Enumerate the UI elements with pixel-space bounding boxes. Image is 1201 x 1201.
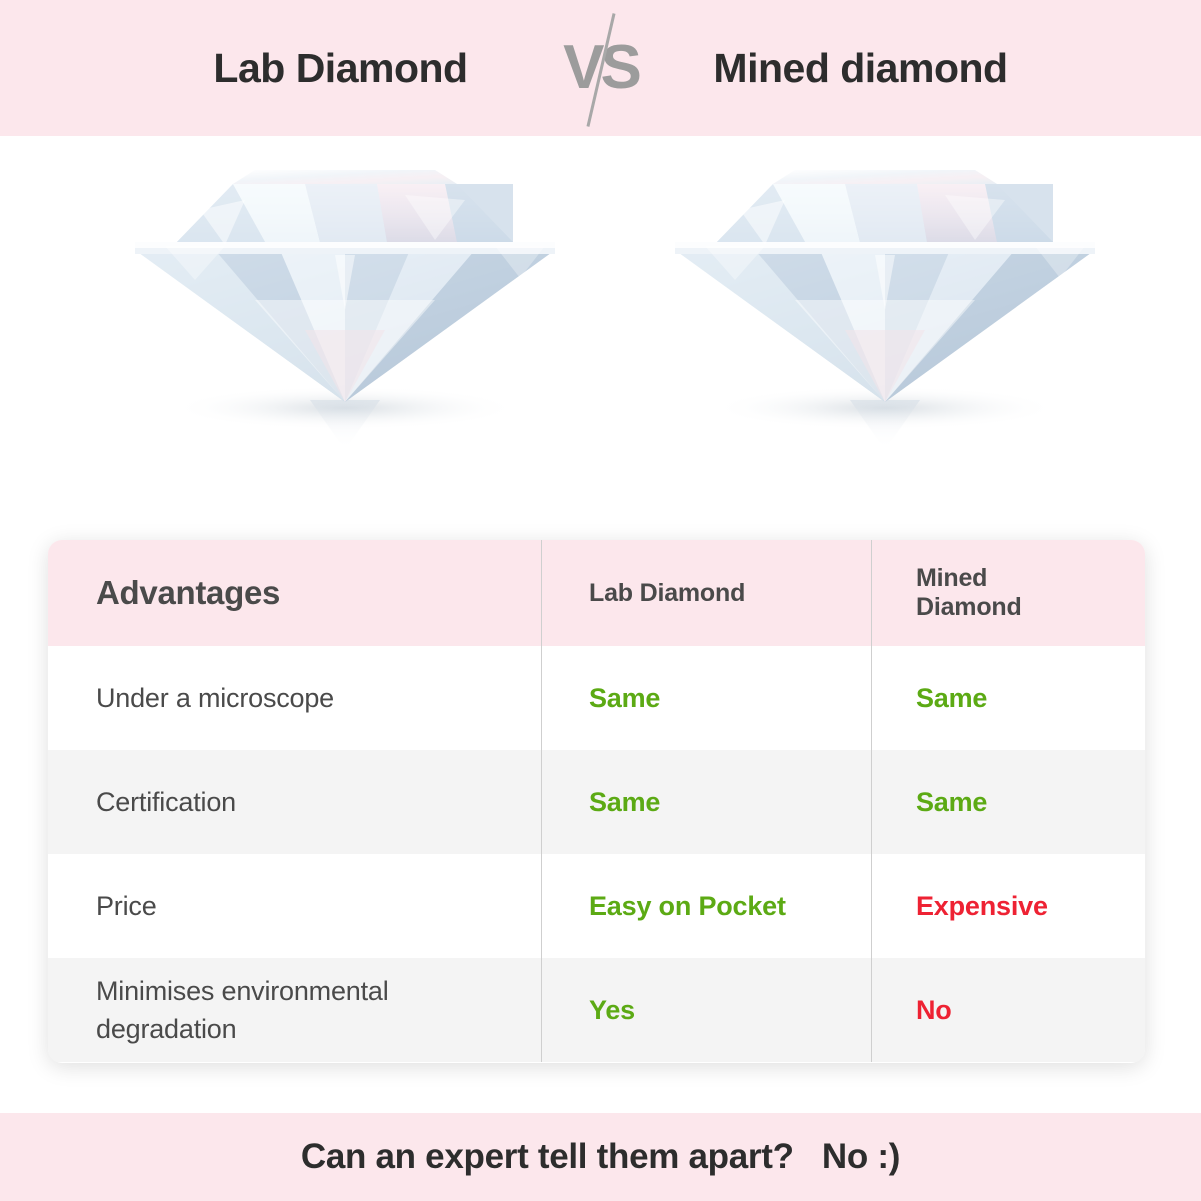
table-row: Minimises environmental degradation Yes … <box>48 958 1145 1062</box>
diamond-stage <box>0 136 1201 536</box>
mined-column-label: Mined Diamond <box>916 564 1060 621</box>
column-divider <box>871 854 872 958</box>
feature-label: Price <box>96 891 157 921</box>
diamond-icon <box>645 150 1115 480</box>
table-row: Certification Same Same <box>48 750 1145 854</box>
column-divider <box>541 750 542 854</box>
lab-value: Yes <box>589 995 635 1025</box>
column-divider <box>541 540 542 646</box>
column-divider <box>541 854 542 958</box>
row-feature-cell: Minimises environmental degradation <box>48 972 541 1049</box>
row-lab-cell: Yes <box>541 995 871 1026</box>
column-divider <box>541 958 542 1062</box>
mined-value: Same <box>916 683 987 713</box>
feature-label: Minimises environmental degradation <box>96 976 389 1044</box>
footer-question: Can an expert tell them apart? No :) <box>301 1137 900 1177</box>
column-divider <box>541 646 542 750</box>
row-mined-cell: No <box>871 995 1145 1026</box>
header-cell-advantages: Advantages <box>48 574 541 612</box>
row-lab-cell: Same <box>541 683 871 714</box>
mined-value: Expensive <box>916 891 1048 921</box>
advantages-label: Advantages <box>96 574 280 611</box>
row-feature-cell: Price <box>48 887 541 925</box>
column-divider <box>871 958 872 1062</box>
lab-diamond-image <box>105 150 575 480</box>
column-divider <box>871 750 872 854</box>
vs-divider: VS <box>541 8 661 128</box>
mined-value: No <box>916 995 952 1025</box>
row-mined-cell: Same <box>871 787 1145 818</box>
table-header-row: Advantages Lab Diamond Mined Diamond <box>48 540 1145 646</box>
header-band: Lab Diamond VS Mined diamond <box>0 0 1201 136</box>
header-cell-lab: Lab Diamond <box>541 579 871 608</box>
lab-value: Same <box>589 683 660 713</box>
lab-diamond-title: Lab Diamond <box>141 45 541 92</box>
footer-band: Can an expert tell them apart? No :) <box>0 1113 1201 1201</box>
lab-column-label: Lab Diamond <box>589 579 791 607</box>
header-cell-mined: Mined Diamond <box>871 564 1145 622</box>
column-divider <box>871 646 872 750</box>
comparison-table-card: Advantages Lab Diamond Mined Diamond Und… <box>48 540 1145 1063</box>
table-row: Price Easy on Pocket Expensive <box>48 854 1145 958</box>
table-row: Under a microscope Same Same <box>48 646 1145 750</box>
mined-diamond-image <box>645 150 1115 480</box>
feature-label: Certification <box>96 787 236 817</box>
feature-label: Under a microscope <box>96 683 334 713</box>
row-feature-cell: Certification <box>48 783 541 821</box>
mined-diamond-title: Mined diamond <box>661 45 1061 92</box>
row-lab-cell: Same <box>541 787 871 818</box>
diamond-icon <box>105 150 575 480</box>
lab-value: Easy on Pocket <box>589 891 786 921</box>
row-feature-cell: Under a microscope <box>48 679 541 717</box>
row-mined-cell: Same <box>871 683 1145 714</box>
column-divider <box>871 540 872 646</box>
row-lab-cell: Easy on Pocket <box>541 891 871 922</box>
mined-value: Same <box>916 787 987 817</box>
lab-value: Same <box>589 787 660 817</box>
row-mined-cell: Expensive <box>871 891 1145 922</box>
